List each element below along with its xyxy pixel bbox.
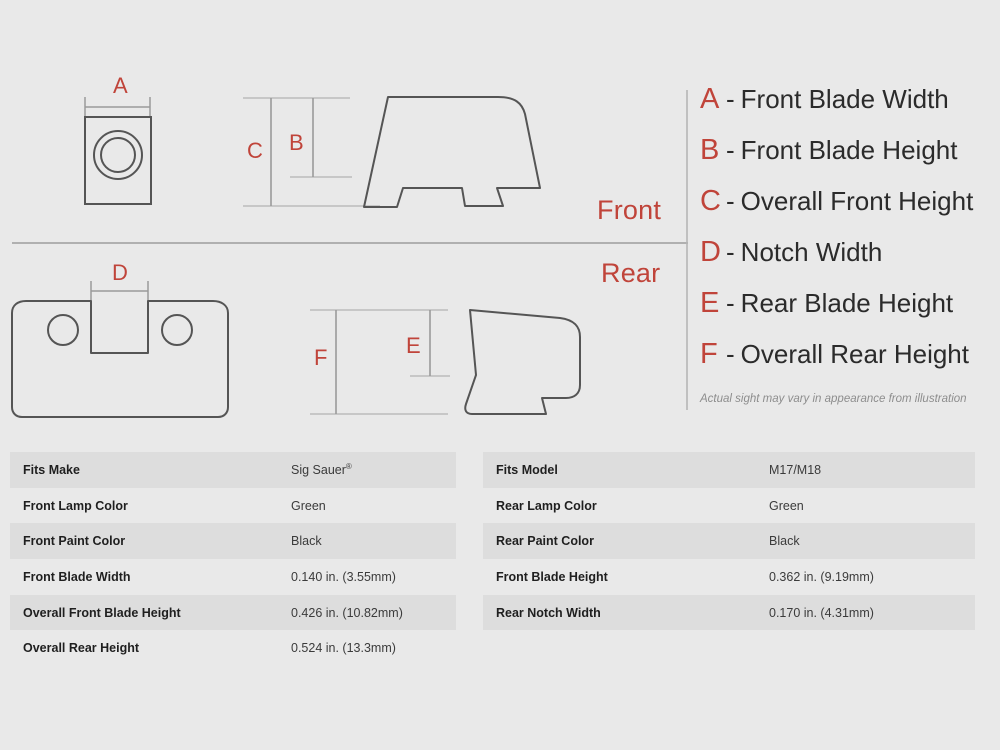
legend-item-e: E - Rear Blade Height	[700, 287, 995, 338]
rear-lamp-right-dot	[162, 315, 192, 345]
legend-dash-f: -	[724, 339, 741, 370]
dimension-label-d: D	[112, 260, 128, 286]
legend-text-f: Overall Rear Height	[741, 339, 969, 370]
legend-item-f: F - Overall Rear Height	[700, 338, 995, 389]
spec-value: Green	[769, 499, 804, 513]
dimension-label-b: B	[289, 130, 304, 156]
spec-value: 0.524 in. (13.3mm)	[291, 641, 396, 655]
spec-value: Green	[291, 499, 326, 513]
legend-text-e: Rear Blade Height	[741, 288, 953, 319]
table-row: Rear Notch Width 0.170 in. (4.31mm)	[483, 595, 975, 631]
legend-item-b: B - Front Blade Height	[700, 134, 995, 185]
spec-label: Rear Notch Width	[483, 606, 769, 620]
spec-label: Rear Paint Color	[483, 534, 769, 548]
diagram-area: A B C D E F Front Rear A - Front Blade W…	[0, 0, 1000, 435]
rear-lamp-left-dot	[48, 315, 78, 345]
spec-tables-area: Fits Make Sig Sauer® Front Lamp Color Gr…	[0, 440, 1000, 690]
dimension-label-e: E	[406, 333, 421, 359]
spec-value: 0.362 in. (9.19mm)	[769, 570, 874, 584]
front-sight-face-view	[85, 97, 151, 204]
spec-value: 0.170 in. (4.31mm)	[769, 606, 874, 620]
table-row: Rear Lamp Color Green	[483, 488, 975, 524]
front-lamp-inner-ring	[101, 138, 135, 172]
front-section-label: Front	[597, 195, 661, 226]
front-sight-profile-view	[243, 97, 540, 208]
sight-spec-page: A B C D E F Front Rear A - Front Blade W…	[0, 0, 1000, 750]
spec-value: Black	[769, 534, 800, 548]
spec-table-right: Fits Model M17/M18 Rear Lamp Color Green…	[483, 452, 975, 630]
spec-table-left: Fits Make Sig Sauer® Front Lamp Color Gr…	[10, 452, 456, 666]
spec-label: Front Blade Height	[483, 570, 769, 584]
rear-sight-profile-view	[310, 310, 580, 414]
spec-value: Black	[291, 534, 322, 548]
legend-letter-a: A	[700, 83, 724, 116]
table-row: Front Lamp Color Green	[10, 488, 456, 524]
rear-sight-profile-shape	[465, 310, 580, 414]
spec-value: 0.140 in. (3.55mm)	[291, 570, 396, 584]
legend-text-b: Front Blade Height	[741, 135, 958, 166]
spec-value: 0.426 in. (10.82mm)	[291, 606, 403, 620]
table-row: Overall Rear Height 0.524 in. (13.3mm)	[10, 630, 456, 666]
dimension-label-a: A	[113, 73, 128, 99]
rear-sight-body-outline	[12, 301, 228, 417]
legend-item-c: C - Overall Front Height	[700, 185, 995, 236]
legend-dash-a: -	[724, 84, 741, 115]
legend-dash-e: -	[724, 288, 741, 319]
rear-sight-face-view	[12, 281, 228, 417]
table-row: Fits Make Sig Sauer®	[10, 452, 456, 488]
spec-label: Overall Rear Height	[10, 641, 291, 655]
legend-item-a: A - Front Blade Width	[700, 83, 995, 134]
spec-label: Front Paint Color	[10, 534, 291, 548]
table-row: Rear Paint Color Black	[483, 523, 975, 559]
dimension-label-f: F	[314, 345, 328, 371]
spec-label: Fits Make	[10, 463, 291, 477]
legend-text-d: Notch Width	[741, 237, 883, 268]
table-row: Front Blade Height 0.362 in. (9.19mm)	[483, 559, 975, 595]
spec-label: Front Blade Width	[10, 570, 291, 584]
legend-letter-b: B	[700, 134, 724, 167]
spec-label: Front Lamp Color	[10, 499, 291, 513]
legend-dash-c: -	[724, 186, 741, 217]
spec-label: Fits Model	[483, 463, 769, 477]
dimension-a-line	[85, 97, 150, 117]
legend-list: A - Front Blade Width B - Front Blade He…	[700, 83, 995, 389]
dimension-label-c: C	[247, 138, 263, 164]
rear-section-label: Rear	[601, 258, 660, 289]
legend-letter-e: E	[700, 287, 724, 320]
legend-letter-c: C	[700, 185, 724, 218]
table-row: Front Blade Width 0.140 in. (3.55mm)	[10, 559, 456, 595]
legend-item-d: D - Notch Width	[700, 236, 995, 287]
spec-label: Rear Lamp Color	[483, 499, 769, 513]
table-row: Front Paint Color Black	[10, 523, 456, 559]
legend-text-a: Front Blade Width	[741, 84, 949, 115]
spec-value-text: Sig Sauer	[291, 463, 346, 477]
spec-label: Overall Front Blade Height	[10, 606, 291, 620]
legend-letter-d: D	[700, 236, 724, 269]
front-sight-profile-shape	[364, 97, 540, 207]
legend-dash-d: -	[724, 237, 741, 268]
table-row: Fits Model M17/M18	[483, 452, 975, 488]
legend-text-c: Overall Front Height	[741, 186, 974, 217]
table-row: Overall Front Blade Height 0.426 in. (10…	[10, 595, 456, 631]
spec-value: M17/M18	[769, 463, 821, 477]
legend-letter-f: F	[700, 338, 724, 371]
registered-trademark-mark: ®	[346, 462, 352, 471]
legend-dash-b: -	[724, 135, 741, 166]
illustration-disclaimer-note: Actual sight may vary in appearance from…	[700, 393, 1000, 405]
spec-value: Sig Sauer®	[291, 462, 352, 477]
